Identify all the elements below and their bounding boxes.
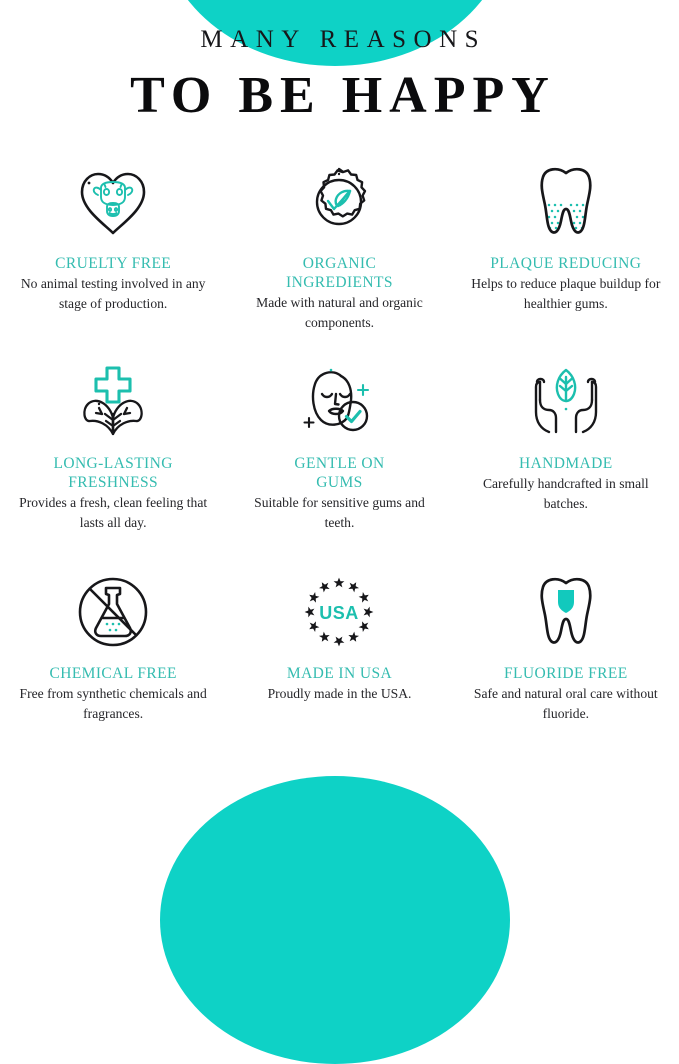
feature-description: No animal testing involved in any stage … — [13, 274, 213, 314]
feature-title: CHEMICAL FREE — [49, 664, 176, 683]
features-grid: CRUELTY FREE No animal testing involved … — [0, 160, 679, 770]
face-check-icon — [297, 360, 381, 444]
feature-title: MADE IN USA — [287, 664, 392, 683]
feature-title: GENTLE ON GUMS — [294, 454, 384, 492]
feature-title: LONG-LASTING FRESHNESS — [54, 454, 173, 492]
feature-title: ORGANIC INGREDIENTS — [286, 254, 393, 292]
feature-card-gentle-on-gums: GENTLE ON GUMS Suitable for sensitive gu… — [226, 360, 452, 570]
organic-seal-leaf-icon — [302, 160, 376, 244]
feature-card-long-lasting-freshness: LONG-LASTING FRESHNESS Provides a fresh,… — [0, 360, 226, 570]
feature-description: Suitable for sensitive gums and teeth. — [239, 493, 439, 533]
feature-description: Safe and natural oral care without fluor… — [466, 684, 666, 724]
feature-card-fluoride-free: FLUORIDE FREE Safe and natural oral care… — [453, 570, 679, 770]
feature-card-cruelty-free: CRUELTY FREE No animal testing involved … — [0, 160, 226, 360]
decorative-bottom-arc — [160, 776, 510, 1064]
cross-leaves-icon — [72, 360, 154, 444]
feature-title: CRUELTY FREE — [55, 254, 171, 273]
feature-card-handmade: HANDMADE Carefully handcrafted in small … — [453, 360, 679, 570]
feature-card-plaque-reducing: PLAQUE REDUCING Helps to reduce plaque b… — [453, 160, 679, 360]
usa-badge-label: USA — [320, 603, 360, 623]
feature-title: HANDMADE — [519, 454, 613, 473]
page-title: TO BE HAPPY — [0, 70, 679, 122]
hands-leaf-icon — [527, 360, 605, 444]
eyebrow-title: MANY REASONS — [0, 27, 679, 52]
feature-card-made-in-usa: USA MADE IN USA Proudly made in the USA. — [226, 570, 452, 770]
no-chemical-flask-icon — [74, 570, 152, 654]
feature-description: Helps to reduce plaque buildup for healt… — [461, 274, 671, 314]
header: MANY REASONS TO BE HAPPY — [0, 0, 679, 122]
tooth-plaque-icon — [536, 160, 596, 244]
feature-card-organic-ingredients: ORGANIC INGREDIENTS Made with natural an… — [226, 160, 452, 360]
feature-title: PLAQUE REDUCING — [490, 254, 641, 273]
usa-stars-badge-icon: USA — [301, 570, 377, 654]
feature-description: Free from synthetic chemicals and fragra… — [13, 684, 213, 724]
feature-card-chemical-free: CHEMICAL FREE Free from synthetic chemic… — [0, 570, 226, 770]
heart-cow-icon — [74, 160, 152, 244]
tooth-shield-icon — [536, 570, 596, 654]
feature-description: Proudly made in the USA. — [268, 684, 412, 704]
feature-description: Carefully handcrafted in small batches. — [466, 474, 666, 514]
feature-description: Made with natural and organic components… — [239, 293, 439, 333]
feature-description: Provides a fresh, clean feeling that las… — [13, 493, 213, 533]
feature-title: FLUORIDE FREE — [504, 664, 628, 683]
